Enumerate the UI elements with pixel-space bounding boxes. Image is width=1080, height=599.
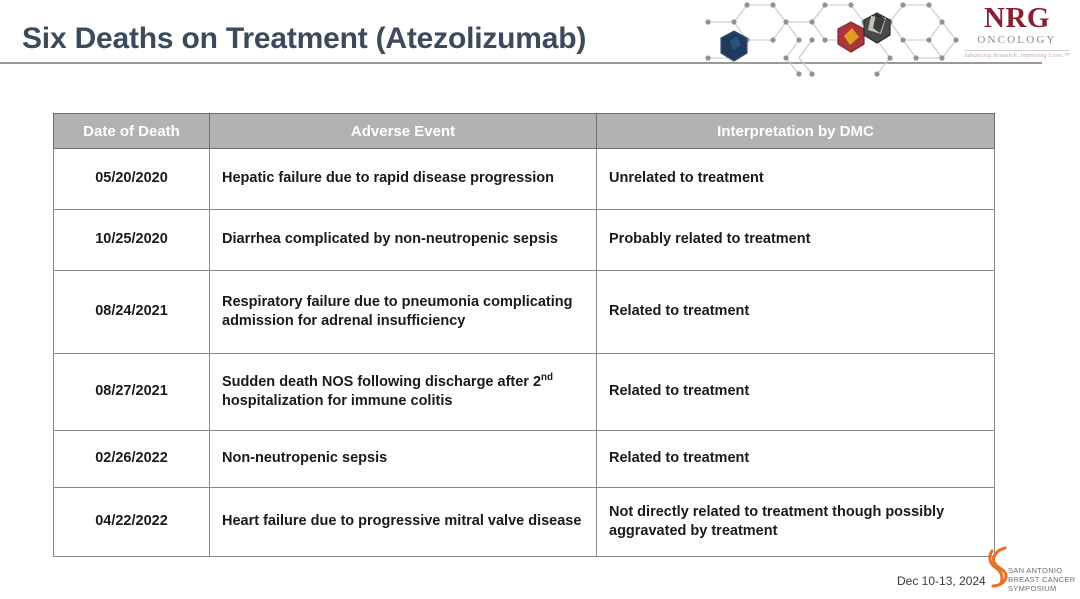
table-row: 05/20/2020 Hepatic failure due to rapid … bbox=[54, 149, 995, 210]
table-row: 02/26/2022 Non-neutropenic sepsis Relate… bbox=[54, 431, 995, 488]
nrg-logo-name: NRG bbox=[957, 4, 1077, 33]
nrg-logo-divider bbox=[965, 50, 1069, 51]
cell-interpretation: Related to treatment bbox=[597, 271, 995, 354]
event-text-suffix: hospitalization for immune colitis bbox=[222, 393, 452, 409]
table-row: 08/27/2021 Sudden death NOS following di… bbox=[54, 354, 995, 431]
cell-interpretation: Related to treatment bbox=[597, 431, 995, 488]
sabcs-logo: SAN ANTONIO BREAST CANCER SYMPOSIUM bbox=[986, 545, 1080, 593]
sabcs-logo-text: SAN ANTONIO BREAST CANCER SYMPOSIUM bbox=[1008, 566, 1076, 593]
cell-date-of-death: 10/25/2020 bbox=[54, 210, 210, 271]
sabcs-line-2: BREAST CANCER bbox=[1008, 575, 1076, 584]
table-row: 08/24/2021 Respiratory failure due to pn… bbox=[54, 271, 995, 354]
table-header-row: Date of Death Adverse Event Interpretati… bbox=[54, 114, 995, 149]
sabcs-line-1: SAN ANTONIO bbox=[1008, 566, 1076, 575]
cell-adverse-event: Sudden death NOS following discharge aft… bbox=[210, 354, 597, 431]
column-header-date-of-death: Date of Death bbox=[54, 114, 210, 149]
cell-adverse-event: Heart failure due to progressive mitral … bbox=[210, 488, 597, 557]
cell-interpretation: Not directly related to treatment though… bbox=[597, 488, 995, 557]
event-text-prefix: Sudden death NOS following discharge aft… bbox=[222, 374, 541, 390]
column-header-adverse-event: Adverse Event bbox=[210, 114, 597, 149]
sabcs-line-3: SYMPOSIUM bbox=[1008, 584, 1076, 593]
symposium-date: Dec 10-13, 2024 bbox=[897, 574, 986, 588]
nrg-logo-subtitle: ONCOLOGY bbox=[957, 33, 1077, 47]
cell-date-of-death: 05/20/2020 bbox=[54, 149, 210, 210]
deaths-table: Date of Death Adverse Event Interpretati… bbox=[53, 113, 995, 557]
cell-date-of-death: 02/26/2022 bbox=[54, 431, 210, 488]
cell-interpretation: Unrelated to treatment bbox=[597, 149, 995, 210]
cell-adverse-event: Diarrhea complicated by non-neutropenic … bbox=[210, 210, 597, 271]
cell-adverse-event: Non-neutropenic sepsis bbox=[210, 431, 597, 488]
cell-adverse-event: Hepatic failure due to rapid disease pro… bbox=[210, 149, 597, 210]
cell-date-of-death: 08/27/2021 bbox=[54, 354, 210, 431]
cell-date-of-death: 04/22/2022 bbox=[54, 488, 210, 557]
nrg-logo-tagline: Advancing Research. Improving Lives.™ bbox=[957, 53, 1077, 59]
nrg-oncology-logo: NRG ONCOLOGY Advancing Research. Improvi… bbox=[957, 4, 1077, 59]
molecule-graphic bbox=[700, 0, 962, 78]
cell-interpretation: Probably related to treatment bbox=[597, 210, 995, 271]
event-text-superscript: nd bbox=[541, 372, 553, 383]
cell-interpretation: Related to treatment bbox=[597, 354, 995, 431]
page-title: Six Deaths on Treatment (Atezolizumab) bbox=[22, 22, 586, 56]
table-row: 04/22/2022 Heart failure due to progress… bbox=[54, 488, 995, 557]
table-row: 10/25/2020 Diarrhea complicated by non-n… bbox=[54, 210, 995, 271]
column-header-interpretation: Interpretation by DMC bbox=[597, 114, 995, 149]
cell-adverse-event: Respiratory failure due to pneumonia com… bbox=[210, 271, 597, 354]
cell-date-of-death: 08/24/2021 bbox=[54, 271, 210, 354]
